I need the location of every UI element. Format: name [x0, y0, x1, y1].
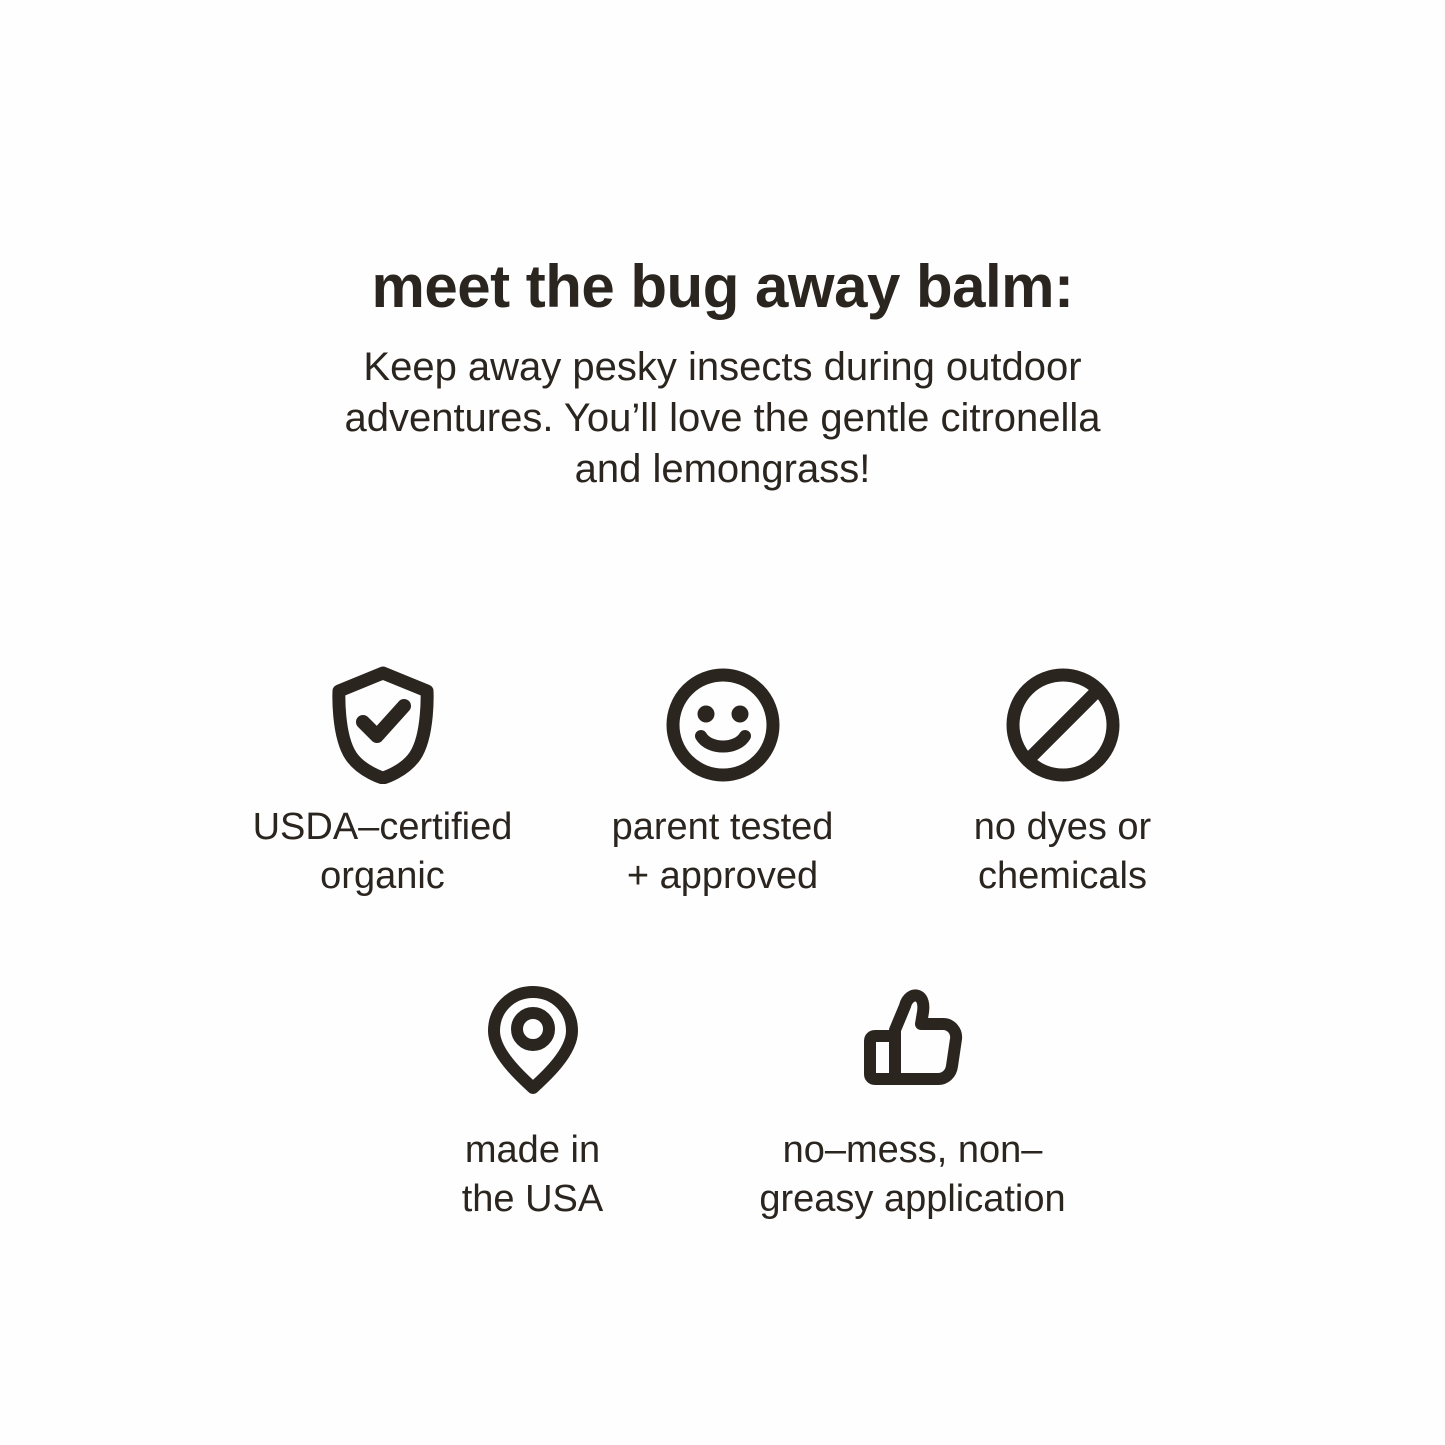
prohibition-icon	[1005, 665, 1121, 785]
shield-check-icon	[330, 665, 436, 785]
benefit-no-mess-non-greasy: no–mess, non– greasy application	[723, 980, 1103, 1225]
benefit-parent-tested-approved: parent tested + approved	[553, 665, 893, 902]
benefit-label: parent tested + approved	[612, 803, 834, 902]
map-pin-icon	[484, 980, 582, 1100]
benefit-label: no–mess, non– greasy application	[759, 1126, 1065, 1225]
benefits-row-two: made in the USA no–mess, non– greasy app…	[0, 980, 1445, 1225]
header-block: meet the bug away balm: Keep away pesky …	[0, 255, 1445, 495]
benefit-label: USDA–certified organic	[253, 803, 513, 902]
benefit-no-dyes-or-chemicals: no dyes or chemicals	[893, 665, 1233, 902]
infographic-page: meet the bug away balm: Keep away pesky …	[0, 0, 1445, 1445]
thumbs-up-icon	[861, 980, 965, 1100]
smiley-face-icon	[665, 665, 781, 785]
benefit-made-in-the-usa: made in the USA	[343, 980, 723, 1225]
page-title: meet the bug away balm:	[0, 255, 1445, 320]
benefit-usda-certified-organic: USDA–certified organic	[213, 665, 553, 902]
benefits-row-one: USDA–certified organic parent tested + a…	[0, 665, 1445, 902]
benefit-label: made in the USA	[462, 1126, 604, 1225]
page-subtitle: Keep away pesky insects during outdoor a…	[308, 342, 1138, 496]
benefit-label: no dyes or chemicals	[974, 803, 1151, 902]
